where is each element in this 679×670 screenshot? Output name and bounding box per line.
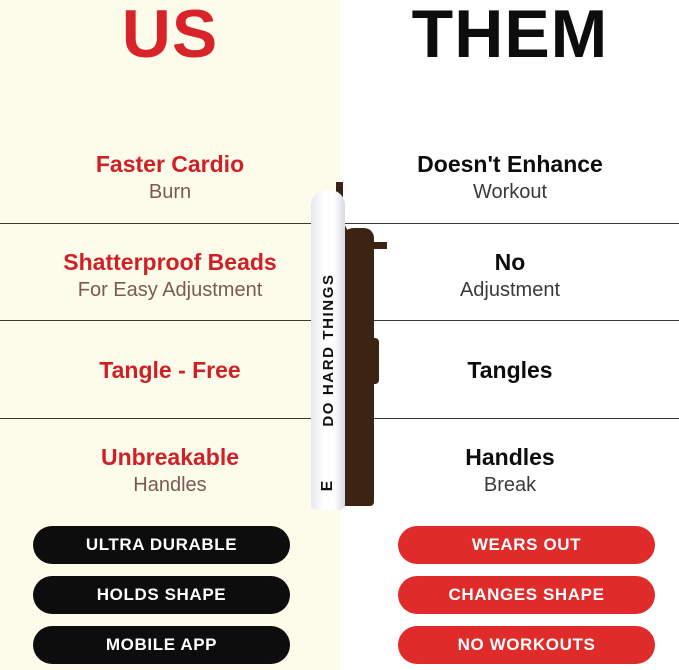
pill-them-2[interactable]: CHANGES SHAPE [398,576,655,614]
handle-brand-text: DO HARD THINGS [311,190,345,510]
pill-us-3[interactable]: MOBILE APP [33,626,290,664]
row-2-them-title: No [340,248,679,277]
row-4-us-subtitle: Handles [0,472,340,498]
row-2-them: No Adjustment [340,248,679,303]
row-2-them-subtitle: Adjustment [340,277,679,303]
row-3-us: Tangle - Free [0,356,340,385]
pill-them-1[interactable]: WEARS OUT [398,526,655,564]
comparison-infographic: US THEM Faster Cardio Burn Doesn't Enhan… [0,0,679,670]
row-2-us-title: Shatterproof Beads [0,248,340,277]
heading-them: THEM [340,0,679,74]
panel-them-background [340,0,679,670]
row-2-us: Shatterproof Beads For Easy Adjustment [0,248,340,303]
row-4-us: Unbreakable Handles [0,443,340,498]
heading-us: US [0,0,340,74]
row-2-us-subtitle: For Easy Adjustment [0,277,340,303]
pill-us-2[interactable]: HOLDS SHAPE [33,576,290,614]
row-1-them-title: Doesn't Enhance [340,150,679,179]
row-3-us-title: Tangle - Free [0,356,340,385]
pill-us-1[interactable]: ULTRA DURABLE [33,526,290,564]
row-1-them-subtitle: Workout [340,179,679,205]
row-3-them: Tangles [340,356,679,385]
row-4-them-subtitle: Break [340,472,679,498]
jump-rope-product-image: DO HARD THINGS E [300,182,386,512]
panel-us-background [0,0,340,670]
row-1-us-title: Faster Cardio [0,150,340,179]
row-4-them-title: Handles [340,443,679,472]
row-1-us-subtitle: Burn [0,179,340,205]
handle-logo-icon: E [320,481,336,492]
row-1-us: Faster Cardio Burn [0,150,340,205]
jump-rope-handle: DO HARD THINGS E [311,190,345,510]
row-1-them: Doesn't Enhance Workout [340,150,679,205]
row-4-us-title: Unbreakable [0,443,340,472]
row-4-them: Handles Break [340,443,679,498]
row-3-them-title: Tangles [340,356,679,385]
pill-them-3[interactable]: NO WORKOUTS [398,626,655,664]
rope-body [340,228,374,506]
